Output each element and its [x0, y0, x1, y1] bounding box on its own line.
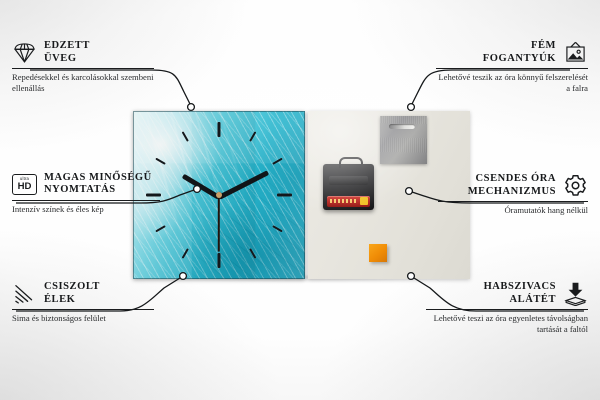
feature-polished-edges: CSISZOLTÉLEK Sima és biztonságos felület — [12, 281, 154, 324]
feature-tempered-glass: EDZETTÜVEG Repedésekkel és karcolásokkal… — [12, 40, 154, 93]
hanger-slot — [389, 124, 415, 129]
feature-title: CSISZOLTÉLEK — [44, 281, 100, 306]
feature-divider — [438, 201, 588, 202]
connector-dot-tempered-glass — [188, 104, 195, 111]
feature-header: HABSZIVACSALÁTÉT — [426, 281, 588, 306]
feature-metal-handles: FÉMFOGANTYÚK Lehetővé teszik az óra könn… — [436, 40, 588, 93]
feature-divider — [436, 68, 588, 69]
mechanism-ridge — [329, 176, 368, 185]
foam-pad — [369, 244, 387, 262]
feature-divider — [426, 309, 588, 310]
feature-title: EDZETTÜVEG — [44, 40, 90, 65]
feature-header: CSISZOLTÉLEK — [12, 281, 154, 306]
feature-divider — [12, 200, 160, 201]
feature-high-quality-print: ultra HD MAGAS MINŐSÉGŰNYOMTATÁS Intenzí… — [12, 172, 160, 214]
feature-header: FÉMFOGANTYÚK — [436, 40, 588, 65]
feature-silent-clock-mechanism: CSENDES ÓRAMECHANIZMUS Óramutatók hang n… — [438, 173, 588, 216]
feature-header: ultra HD MAGAS MINŐSÉGŰNYOMTATÁS — [12, 172, 160, 197]
picture-hanger-icon — [563, 40, 588, 65]
diamond-icon — [12, 40, 37, 65]
feature-description: Repedésekkel és karcolásokkal szembeni e… — [12, 72, 154, 93]
feature-title: CSENDES ÓRAMECHANIZMUS — [468, 173, 556, 198]
mechanism-hanging-loop — [339, 157, 363, 168]
feature-description: Intenzív színek és éles kép — [12, 204, 160, 215]
polished-edges-icon — [12, 281, 37, 306]
product-image — [133, 111, 470, 279]
metal-grain — [380, 116, 427, 164]
foam-pad-arrow-icon — [563, 281, 588, 306]
feature-description: Lehetővé teszik az óra könnyű felszerelé… — [436, 72, 588, 93]
connector-dot-hanger — [408, 104, 415, 111]
feature-header: CSENDES ÓRAMECHANIZMUS — [438, 173, 588, 198]
feature-foam-pad: HABSZIVACSALÁTÉT Lehetővé teszi az óra e… — [426, 281, 588, 334]
feature-title: HABSZIVACSALÁTÉT — [484, 281, 556, 306]
metal-hanger-plate — [380, 116, 427, 164]
feature-divider — [12, 68, 154, 69]
battery-plus-terminal — [360, 197, 368, 205]
ultra-hd-badge-icon: ultra HD — [12, 174, 37, 195]
feature-title: FÉMFOGANTYÚK — [483, 40, 556, 65]
clock-mechanism-box — [323, 164, 374, 210]
feature-divider — [12, 309, 154, 310]
feature-header: EDZETTÜVEG — [12, 40, 154, 65]
infographic-canvas: EDZETTÜVEG Repedésekkel és karcolásokkal… — [0, 0, 600, 400]
feature-description: Óramutatók hang nélkül — [438, 205, 588, 216]
feature-description: Sima és biztonságos felület — [12, 313, 154, 324]
gear-icon — [563, 173, 588, 198]
feature-description: Lehetővé teszi az óra egyenletes távolsá… — [426, 313, 588, 334]
battery-label — [330, 199, 358, 203]
feature-title: MAGAS MINŐSÉGŰNYOMTATÁS — [44, 172, 152, 197]
battery — [327, 196, 370, 207]
